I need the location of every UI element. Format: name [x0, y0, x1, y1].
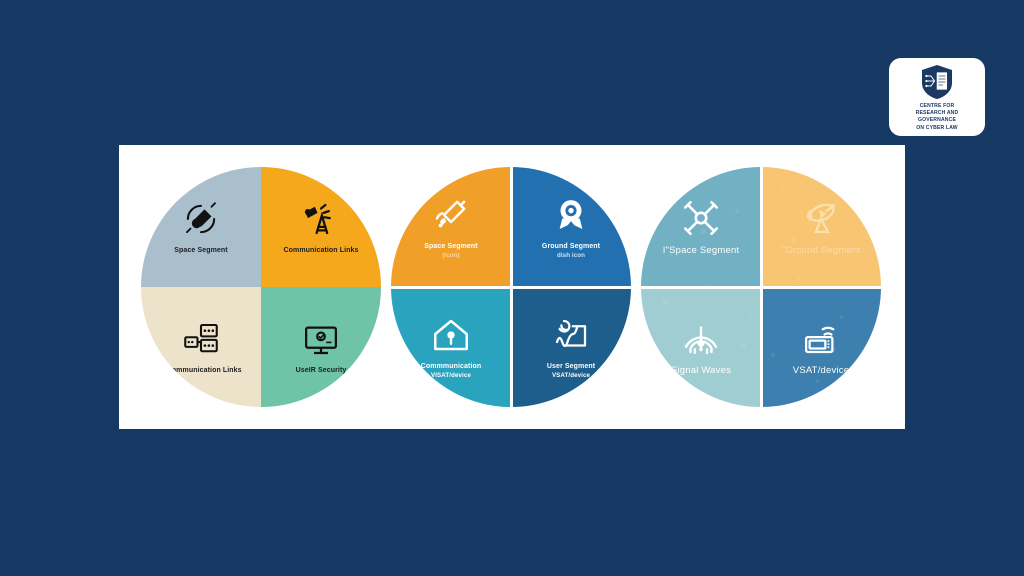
wheel-textured: I"Space Segment "Ground Segment	[641, 167, 881, 407]
diagram-canvas: Space Segment Communication Links	[119, 145, 905, 429]
quadrant-ground-segment[interactable]: Ground Segment dish icon	[511, 167, 631, 287]
shield-book-icon	[920, 64, 954, 100]
quadrant-space-segment-textured[interactable]: I"Space Segment	[641, 167, 761, 287]
quadrant-sublabel: VISAT/device	[427, 372, 475, 380]
quadrant-sublabel: (icon)	[438, 252, 463, 260]
quadrant-space-segment-icon[interactable]: Space Segment (icon)	[391, 167, 511, 287]
quadrant-label: Signal Waves	[667, 365, 735, 378]
quadrant-label: Communication Links	[279, 246, 362, 255]
quadrant-label: Ground Segment	[538, 242, 604, 251]
quadrant-user-segment-vsat[interactable]: User Segment VSAT/device	[511, 287, 631, 407]
quadrant-label: Commmunication	[417, 362, 486, 371]
vsat-device-icon	[800, 317, 842, 359]
quadrant-commmunication-visat[interactable]: Commmunication VISAT/device	[391, 287, 511, 407]
quadrant-signal-waves[interactable]: Signal Waves	[641, 287, 761, 407]
quadrant-commmunication-links[interactable]: Commmunication Links	[141, 287, 261, 407]
monitor-shield-icon	[300, 318, 342, 360]
quadrant-sublabel: dish icon	[553, 252, 589, 260]
quadrant-label: Space Segment	[170, 246, 231, 255]
satellite-cross-icon	[680, 197, 722, 239]
quadrant-space-segment[interactable]: Space Segment	[141, 167, 261, 287]
logo-text: CENTRE FOR RESEARCH AND GOVERNANCE ON CY…	[916, 103, 959, 132]
crgcl-logo: CENTRE FOR RESEARCH AND GOVERNANCE ON CY…	[889, 58, 985, 136]
radar-dish-icon	[800, 197, 842, 239]
quadrant-label: I"Space Segment	[659, 245, 744, 258]
antenna-tower-icon	[300, 198, 342, 240]
quadrant-label: User Segment	[543, 362, 599, 371]
quadrant-label: "Ground Segment	[778, 245, 865, 258]
home-signal-icon	[430, 314, 472, 356]
satellite-wrench-icon	[430, 194, 472, 236]
quadrant-divider-horizontal	[391, 286, 631, 289]
satellite-icon	[180, 198, 222, 240]
quadrant-ground-segment-textured[interactable]: "Ground Segment	[761, 167, 881, 287]
wheel-white-icons: Space Segment (icon) Ground Segment dish…	[391, 167, 631, 407]
quadrant-label: Commmunication Links	[156, 366, 245, 375]
waveform-device-icon	[550, 314, 592, 356]
quadrant-sublabel: VSAT/device	[548, 372, 594, 380]
quadrant-user-security[interactable]: UseIR Security	[261, 287, 381, 407]
server-rack-icon	[180, 318, 222, 360]
ground-dish-icon	[550, 194, 592, 236]
quadrant-label: VSAT/device	[789, 365, 853, 378]
quadrant-label: UseIR Security	[292, 366, 351, 375]
quadrant-label: Space Segment	[420, 242, 481, 251]
quadrant-vsat-device[interactable]: VSAT/device	[761, 287, 881, 407]
quadrant-divider-horizontal	[641, 286, 881, 289]
wheel-flat-dark-icons: Space Segment Communication Links	[141, 167, 381, 407]
quadrant-communication-links[interactable]: Communication Links	[261, 167, 381, 287]
signal-waves-icon	[680, 317, 722, 359]
